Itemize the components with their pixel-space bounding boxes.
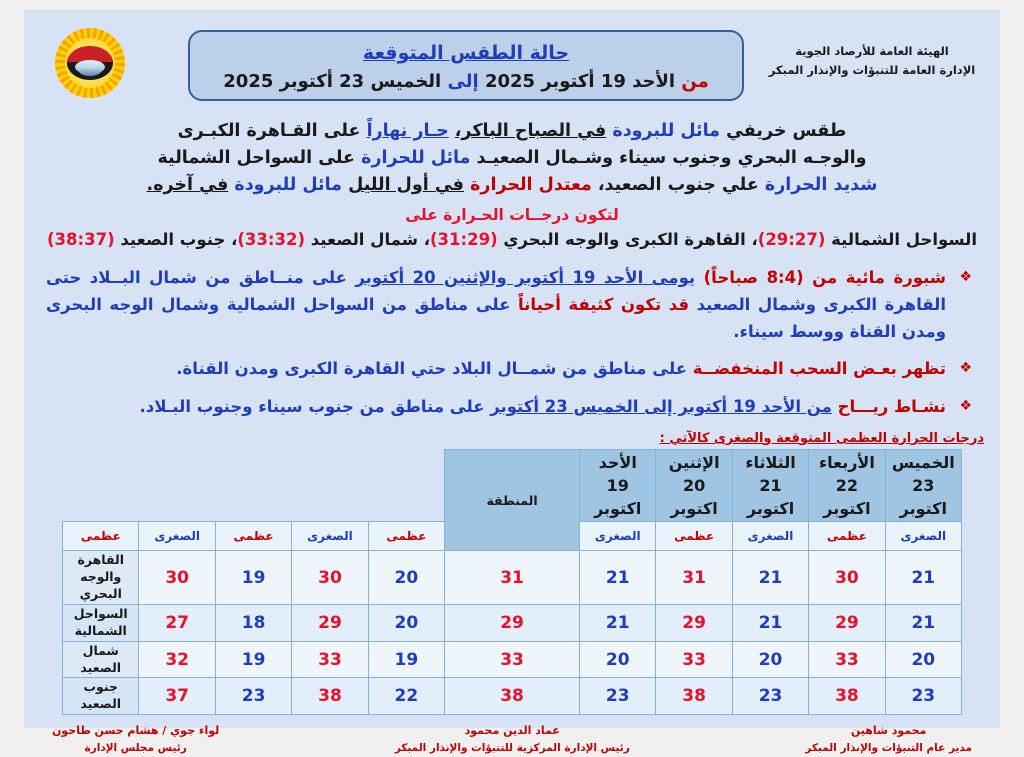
- cell-region: السواحل الشمالية: [63, 604, 139, 641]
- cell-min: 20: [732, 641, 808, 678]
- cell-max: 32: [139, 641, 215, 678]
- signatory-name: محمود شاهين: [805, 722, 972, 740]
- narrative-seg: علي جنوب الصعيد،: [598, 175, 759, 195]
- cell-min: 19: [215, 641, 291, 678]
- title-box: حالة الطقس المتوقعة من الأحد 19 أكتوبر 2…: [188, 30, 744, 101]
- max-subheader: عظمى: [63, 522, 139, 551]
- signatory-title: مدير عام التنبؤات والإنذار المبكر: [805, 740, 972, 757]
- cell-min: 21: [732, 551, 808, 605]
- bullet-seg: قد تكون كثيفة أحياناً: [518, 295, 689, 314]
- cell-max: 38: [656, 678, 732, 715]
- cell-max: 37: [139, 678, 215, 715]
- cell-max: 27: [139, 604, 215, 641]
- bullet-list: ❖ شبورة مائية من (8:4 صباحاً) يومى الأحد…: [46, 265, 972, 421]
- forecast-narrative: طقس خريفي مائل للبرودة في الصباح الباكر،…: [24, 118, 1000, 199]
- cell-min: 23: [885, 678, 961, 715]
- signatory-name: عماد الدين محمود: [395, 722, 630, 740]
- range-value: (38:37): [47, 230, 115, 249]
- narrative-seg: على السواحل الشمالية: [157, 148, 355, 168]
- narrative-line-3: شديد الحرارة علي جنوب الصعيد، معتدل الحر…: [24, 172, 1000, 199]
- table-row: 23 38 23 38 23 38 22 38 23 37 جنوب الصعي…: [63, 678, 962, 715]
- day-date: 23 اكتوبر: [887, 474, 960, 520]
- bullet-seg: من الأحد 19 أكتوبر إلى الخميس 23 أكتوبر: [490, 397, 832, 416]
- period-to-label: إلى: [448, 71, 479, 92]
- day-header: الثلاثاء 21 اكتوبر: [732, 449, 808, 522]
- day-header: الأربعاء 22 اكتوبر: [809, 449, 885, 522]
- bullet-marker-icon: ❖: [959, 357, 972, 380]
- narrative-seg: حـار نهاراً: [367, 121, 449, 141]
- cell-min: 19: [368, 641, 444, 678]
- cell-min: 21: [732, 604, 808, 641]
- cell-max: 30: [809, 551, 885, 605]
- cell-max: 33: [445, 641, 580, 678]
- narrative-seg: في أول الليل: [348, 175, 464, 195]
- cell-min: 18: [215, 604, 291, 641]
- narrative-seg: طقس خريفي: [726, 121, 846, 141]
- list-item: ❖ تظهر بعـض السحب المنخفضــة على مناطق م…: [46, 356, 972, 383]
- signature-block: محمود شاهين مدير عام التنبؤات والإنذار ا…: [805, 722, 972, 756]
- range-value: (29:27): [758, 230, 826, 249]
- cell-max: 33: [656, 641, 732, 678]
- forecast-document: حالة الطقس المتوقعة من الأحد 19 أكتوبر 2…: [24, 10, 1000, 728]
- cell-max: 38: [292, 678, 368, 715]
- region-column-header: المنطقة: [445, 449, 580, 551]
- signatory-title: رئيس مجلس الإدارة: [52, 740, 219, 757]
- cell-max: 31: [445, 551, 580, 605]
- day-header: الإثنين 20 اكتوبر: [656, 449, 732, 522]
- table-caption: درجات الحرارة العظمى المتوقعة والصغرى كا…: [24, 431, 984, 446]
- cell-region: جنوب الصعيد: [63, 678, 139, 715]
- narrative-seg: مائل للبرودة: [234, 175, 342, 195]
- day-name: الأحد: [581, 451, 654, 474]
- cell-max: 29: [809, 604, 885, 641]
- narrative-seg: مائل للبرودة: [612, 121, 720, 141]
- cell-region: شمال الصعيد: [63, 641, 139, 678]
- range-region: شمال الصعيد: [311, 230, 418, 249]
- bullet-seg: على مناطق من شمــال البلاد حتي القاهرة ا…: [176, 359, 687, 378]
- cell-max: 29: [292, 604, 368, 641]
- document-footer: محمود شاهين مدير عام التنبؤات والإنذار ا…: [52, 722, 972, 756]
- day-date: 20 اكتوبر: [657, 474, 730, 520]
- cell-min: 20: [368, 604, 444, 641]
- min-subheader: الصغرى: [292, 522, 368, 551]
- day-date: 21 اكتوبر: [734, 474, 807, 520]
- cell-min: 21: [885, 551, 961, 605]
- cell-max: 33: [809, 641, 885, 678]
- cell-max: 30: [292, 551, 368, 605]
- narrative-line-2: والوجـه البحري وجنوب سيناء وشـمال الصعيـ…: [24, 145, 1000, 172]
- cell-max: 38: [445, 678, 580, 715]
- narrative-seg: مائل للحرارة: [361, 148, 470, 168]
- min-subheader: الصغرى: [885, 522, 961, 551]
- signatory-name: لواء جوي / هشام حسن طاحون: [52, 722, 219, 740]
- day-header: الخميس 23 اكتوبر: [885, 449, 961, 522]
- cell-max: 30: [139, 551, 215, 605]
- cell-min: 21: [885, 604, 961, 641]
- day-name: الثلاثاء: [734, 451, 807, 474]
- cell-min: 22: [368, 678, 444, 715]
- forecast-period: من الأحد 19 أكتوبر 2025 إلى الخميس 23 أك…: [190, 68, 742, 97]
- min-subheader: الصغرى: [732, 522, 808, 551]
- logo-emblem-oval: [67, 46, 113, 80]
- signatory-title: رئيس الإدارة المركزية للتنبؤات والإنذار …: [395, 740, 630, 757]
- range-region: جنوب الصعيد: [120, 230, 225, 249]
- logo-cloud-lower: [79, 66, 101, 76]
- min-subheader: الصغرى: [580, 522, 656, 551]
- ranges-line: السواحل الشمالية (29:27)، القاهرة الكبرى…: [24, 228, 1000, 253]
- day-name: الإثنين: [657, 451, 730, 474]
- bullet-seg: على مناطق من جنوب سيناء وجنوب البـلاد.: [140, 397, 485, 416]
- narrative-seg: في الصباح الباكر،: [455, 121, 606, 141]
- ranges-title: لتكون درجــات الحـرارة على: [24, 206, 1000, 224]
- cell-region: القاهرة والوجه البحري: [63, 551, 139, 605]
- cell-min: 23: [580, 678, 656, 715]
- cell-max: 29: [445, 604, 580, 641]
- max-subheader: عظمى: [809, 522, 885, 551]
- cell-min: 19: [215, 551, 291, 605]
- list-item: ❖ نشـاط ريـــاح من الأحد 19 أكتوبر إلى ا…: [46, 394, 972, 421]
- bullet-seg: تظهر بعـض السحب المنخفضــة: [693, 359, 946, 378]
- narrative-seg: في آخره.: [147, 175, 229, 195]
- narrative-line-1: طقس خريفي مائل للبرودة في الصباح الباكر،…: [24, 118, 1000, 145]
- narrative-seg: معتدل الحرارة: [470, 175, 592, 195]
- bullet-seg: شبورة مائية من: [812, 268, 946, 287]
- temperature-table: الخميس 23 اكتوبر الأربعاء 22 اكتوبر الثل…: [62, 449, 962, 715]
- table-header-days: الخميس 23 اكتوبر الأربعاء 22 اكتوبر الثل…: [63, 449, 962, 522]
- document-header: حالة الطقس المتوقعة من الأحد 19 أكتوبر 2…: [24, 10, 1000, 112]
- cell-min: 21: [580, 604, 656, 641]
- narrative-seg: والوجـه البحري وجنوب سيناء وشـمال الصعيـ…: [477, 148, 867, 168]
- day-date: 19 اكتوبر: [581, 474, 654, 520]
- cell-max: 33: [292, 641, 368, 678]
- cell-min: 20: [368, 551, 444, 605]
- organization-line-2: الإدارة العامة للتنبؤات والإنذار المبكر: [758, 61, 986, 80]
- period-start: الأحد 19 أكتوبر 2025: [485, 71, 675, 92]
- bullet-seg: نشـاط ريـــاح: [838, 397, 946, 416]
- narrative-seg: على القـاهرة الكبـرى: [178, 121, 361, 141]
- cell-min: 23: [215, 678, 291, 715]
- bullet-seg: (8:4 صباحاً): [704, 268, 804, 287]
- day-header: الأحد 19 اكتوبر: [580, 449, 656, 522]
- bullet-marker-icon: ❖: [959, 395, 972, 418]
- range-value: (33:32): [237, 230, 305, 249]
- organization-name: الهيئة العامة للأرصاد الجوية الإدارة الع…: [758, 42, 986, 80]
- cell-min: 20: [580, 641, 656, 678]
- bullet-seg: يومى الأحد 19 أكتوبر والإثنين 20 أكتوبر: [355, 268, 695, 287]
- day-date: 22 اكتوبر: [810, 474, 883, 520]
- range-region: السواحل الشمالية: [831, 230, 977, 249]
- table-row: 20 33 20 33 20 33 19 33 19 32 شمال الصعي…: [63, 641, 962, 678]
- page-title: حالة الطقس المتوقعة: [190, 39, 742, 68]
- weather-authority-logo-icon: [52, 28, 128, 98]
- cell-min: 21: [580, 551, 656, 605]
- day-name: الأربعاء: [810, 451, 883, 474]
- bullet-marker-icon: ❖: [959, 266, 972, 289]
- narrative-seg: شديد الحرارة: [765, 175, 878, 195]
- max-subheader: عظمى: [368, 522, 444, 551]
- range-value: (31:29): [430, 230, 498, 249]
- cell-max: 29: [656, 604, 732, 641]
- cell-max: 31: [656, 551, 732, 605]
- cell-max: 38: [809, 678, 885, 715]
- range-region: القاهرة الكبرى والوجه البحري: [503, 230, 745, 249]
- day-name: الخميس: [887, 451, 960, 474]
- table-row: 21 29 21 29 21 29 20 29 18 27 السواحل ال…: [63, 604, 962, 641]
- signature-block: لواء جوي / هشام حسن طاحون رئيس مجلس الإد…: [52, 722, 219, 756]
- max-subheader: عظمى: [656, 522, 732, 551]
- cell-min: 20: [885, 641, 961, 678]
- list-item: ❖ شبورة مائية من (8:4 صباحاً) يومى الأحد…: [46, 265, 972, 345]
- signature-block: عماد الدين محمود رئيس الإدارة المركزية ل…: [395, 722, 630, 756]
- cell-min: 23: [732, 678, 808, 715]
- min-subheader: الصغرى: [139, 522, 215, 551]
- period-from-label: من: [681, 71, 708, 92]
- period-end: الخميس 23 أكتوبر 2025: [223, 71, 441, 92]
- organization-line-1: الهيئة العامة للأرصاد الجوية: [758, 42, 986, 61]
- max-subheader: عظمى: [215, 522, 291, 551]
- table-row: 21 30 21 31 21 31 20 30 19 30 القاهرة وا…: [63, 551, 962, 605]
